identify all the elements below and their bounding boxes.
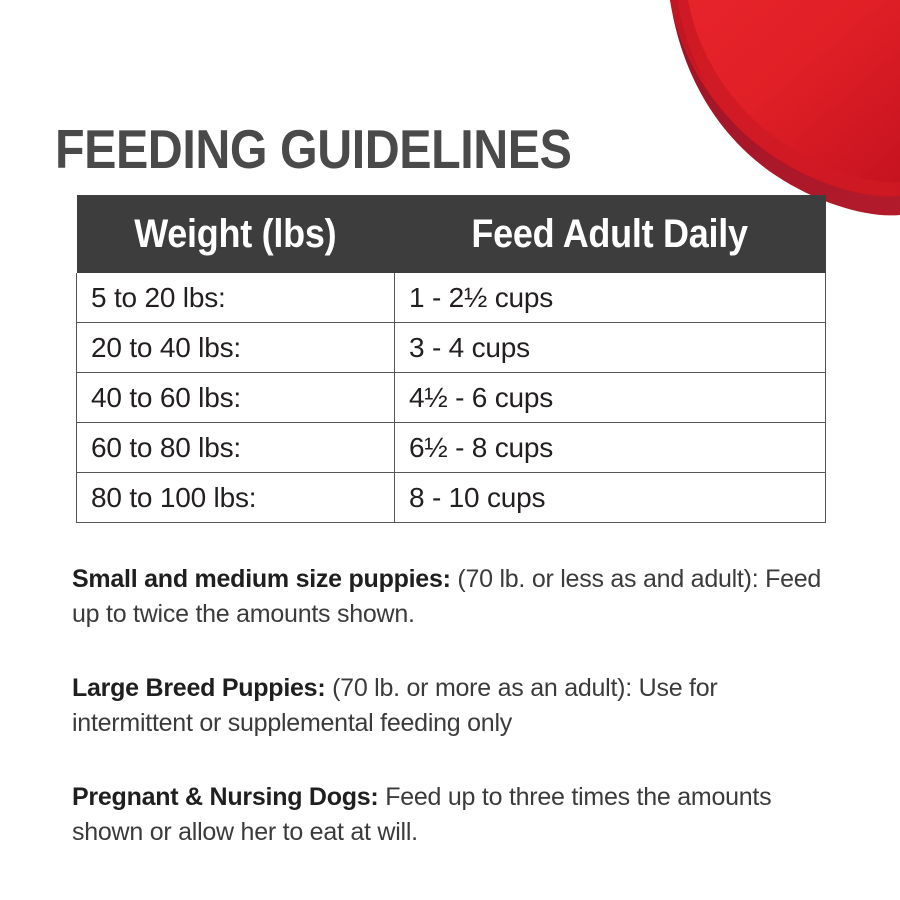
- cell-feed: 6½ - 8 cups: [395, 423, 826, 473]
- note-lead: Small and medium size puppies:: [72, 565, 451, 593]
- note-lead: Large Breed Puppies:: [72, 674, 325, 702]
- cell-weight: 20 to 40 lbs:: [77, 323, 395, 373]
- page-title: FEEDING GUIDELINES: [55, 119, 571, 179]
- table-header-row: Weight (lbs) Feed Adult Daily: [77, 195, 826, 273]
- table-row: 5 to 20 lbs: 1 - 2½ cups: [77, 273, 826, 323]
- note-large-breed-puppies: Large Breed Puppies: (70 lb. or more as …: [72, 671, 832, 741]
- feeding-guidelines-table: Weight (lbs) Feed Adult Daily 5 to 20 lb…: [76, 195, 826, 523]
- table-row: 40 to 60 lbs: 4½ - 6 cups: [77, 373, 826, 423]
- table-header: Weight (lbs) Feed Adult Daily: [77, 195, 826, 273]
- cell-feed: 4½ - 6 cups: [395, 373, 826, 423]
- table-body: 5 to 20 lbs: 1 - 2½ cups 20 to 40 lbs: 3…: [77, 273, 826, 523]
- cell-weight: 60 to 80 lbs:: [77, 423, 395, 473]
- column-header-feed-adult-daily: Feed Adult Daily: [395, 195, 826, 273]
- feeding-notes: Small and medium size puppies: (70 lb. o…: [72, 562, 832, 850]
- swoosh-fold-highlight: [670, 0, 900, 196]
- column-header-weight-label: Weight (lbs): [134, 212, 336, 257]
- swoosh-shadow-layer: [670, 0, 900, 215]
- cell-weight: 40 to 60 lbs:: [77, 373, 395, 423]
- swoosh-main-layer: [670, 0, 900, 196]
- table-row: 80 to 100 lbs: 8 - 10 cups: [77, 473, 826, 523]
- note-small-medium-puppies: Small and medium size puppies: (70 lb. o…: [72, 562, 832, 632]
- column-header-feed-adult-daily-label: Feed Adult Daily: [472, 212, 748, 257]
- cell-weight: 80 to 100 lbs:: [77, 473, 395, 523]
- table-row: 20 to 40 lbs: 3 - 4 cups: [77, 323, 826, 373]
- cell-feed: 3 - 4 cups: [395, 323, 826, 373]
- note-lead: Pregnant & Nursing Dogs:: [72, 783, 379, 811]
- table-row: 60 to 80 lbs: 6½ - 8 cups: [77, 423, 826, 473]
- note-pregnant-nursing-dogs: Pregnant & Nursing Dogs: Feed up to thre…: [72, 780, 832, 850]
- swoosh-inner-crease: [670, 0, 706, 84]
- cell-feed: 1 - 2½ cups: [395, 273, 826, 323]
- feeding-guidelines-label: FEEDING GUIDELINES Weight (lbs) Feed Adu…: [0, 0, 900, 900]
- cell-feed: 8 - 10 cups: [395, 473, 826, 523]
- cell-weight: 5 to 20 lbs:: [77, 273, 395, 323]
- column-header-weight: Weight (lbs): [77, 195, 395, 273]
